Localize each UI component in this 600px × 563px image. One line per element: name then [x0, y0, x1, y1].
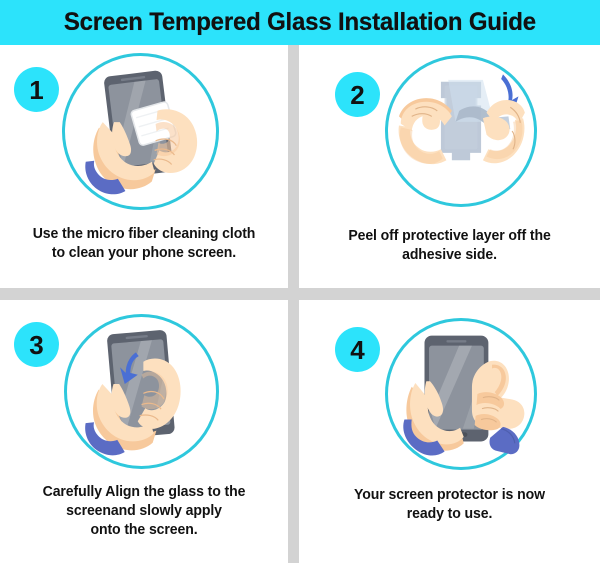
step-caption-4: Your screen protector is now ready to us… [304, 486, 596, 524]
step-number-badge-4: 4 [335, 327, 380, 372]
step-panel-4: 4 [299, 300, 600, 563]
step-panel-2: 2 [299, 45, 600, 288]
step-number-badge-3: 3 [14, 322, 59, 367]
step-illustration-1 [62, 53, 219, 210]
caption-line: ready to use. [304, 505, 596, 524]
step-illustration-3 [64, 314, 219, 469]
header-banner: Screen Tempered Glass Installation Guide [0, 0, 600, 45]
caption-line: to clean your phone screen. [4, 244, 283, 263]
horizontal-divider [0, 288, 600, 300]
step-caption-3: Carefully Align the glass to the screena… [4, 483, 283, 540]
step-number-3: 3 [29, 332, 43, 358]
vertical-divider [288, 45, 299, 563]
align-glass-illustration-icon [67, 317, 216, 466]
step-number-2: 2 [350, 82, 364, 108]
step-number-badge-1: 1 [14, 67, 59, 112]
step-number-4: 4 [350, 337, 364, 363]
page-title: Screen Tempered Glass Installation Guide [64, 8, 536, 37]
installation-guide-poster: Screen Tempered Glass Installation Guide… [0, 0, 600, 563]
caption-line: onto the screen. [4, 521, 283, 540]
step-caption-1: Use the micro fiber cleaning cloth to cl… [4, 225, 283, 263]
caption-line: Your screen protector is now [304, 486, 596, 505]
step-number-badge-2: 2 [335, 72, 380, 117]
caption-line: Carefully Align the glass to the [4, 483, 283, 502]
thumbs-up-phone-illustration-icon [388, 321, 534, 467]
cleaning-cloth-illustration-icon [65, 56, 216, 207]
caption-line: Use the micro fiber cleaning cloth [4, 225, 283, 244]
caption-line: Peel off protective layer off the [304, 227, 596, 246]
step-illustration-4 [385, 318, 537, 470]
step-panel-3: 3 [0, 300, 288, 563]
caption-line: screenand slowly apply [4, 502, 283, 521]
step-illustration-2 [385, 55, 537, 207]
caption-line: adhesive side. [304, 246, 596, 265]
step-panel-1: 1 [0, 45, 288, 288]
step-caption-2: Peel off protective layer off the adhesi… [304, 227, 596, 265]
step-number-1: 1 [29, 77, 43, 103]
peel-protective-layer-illustration-icon [388, 58, 534, 204]
